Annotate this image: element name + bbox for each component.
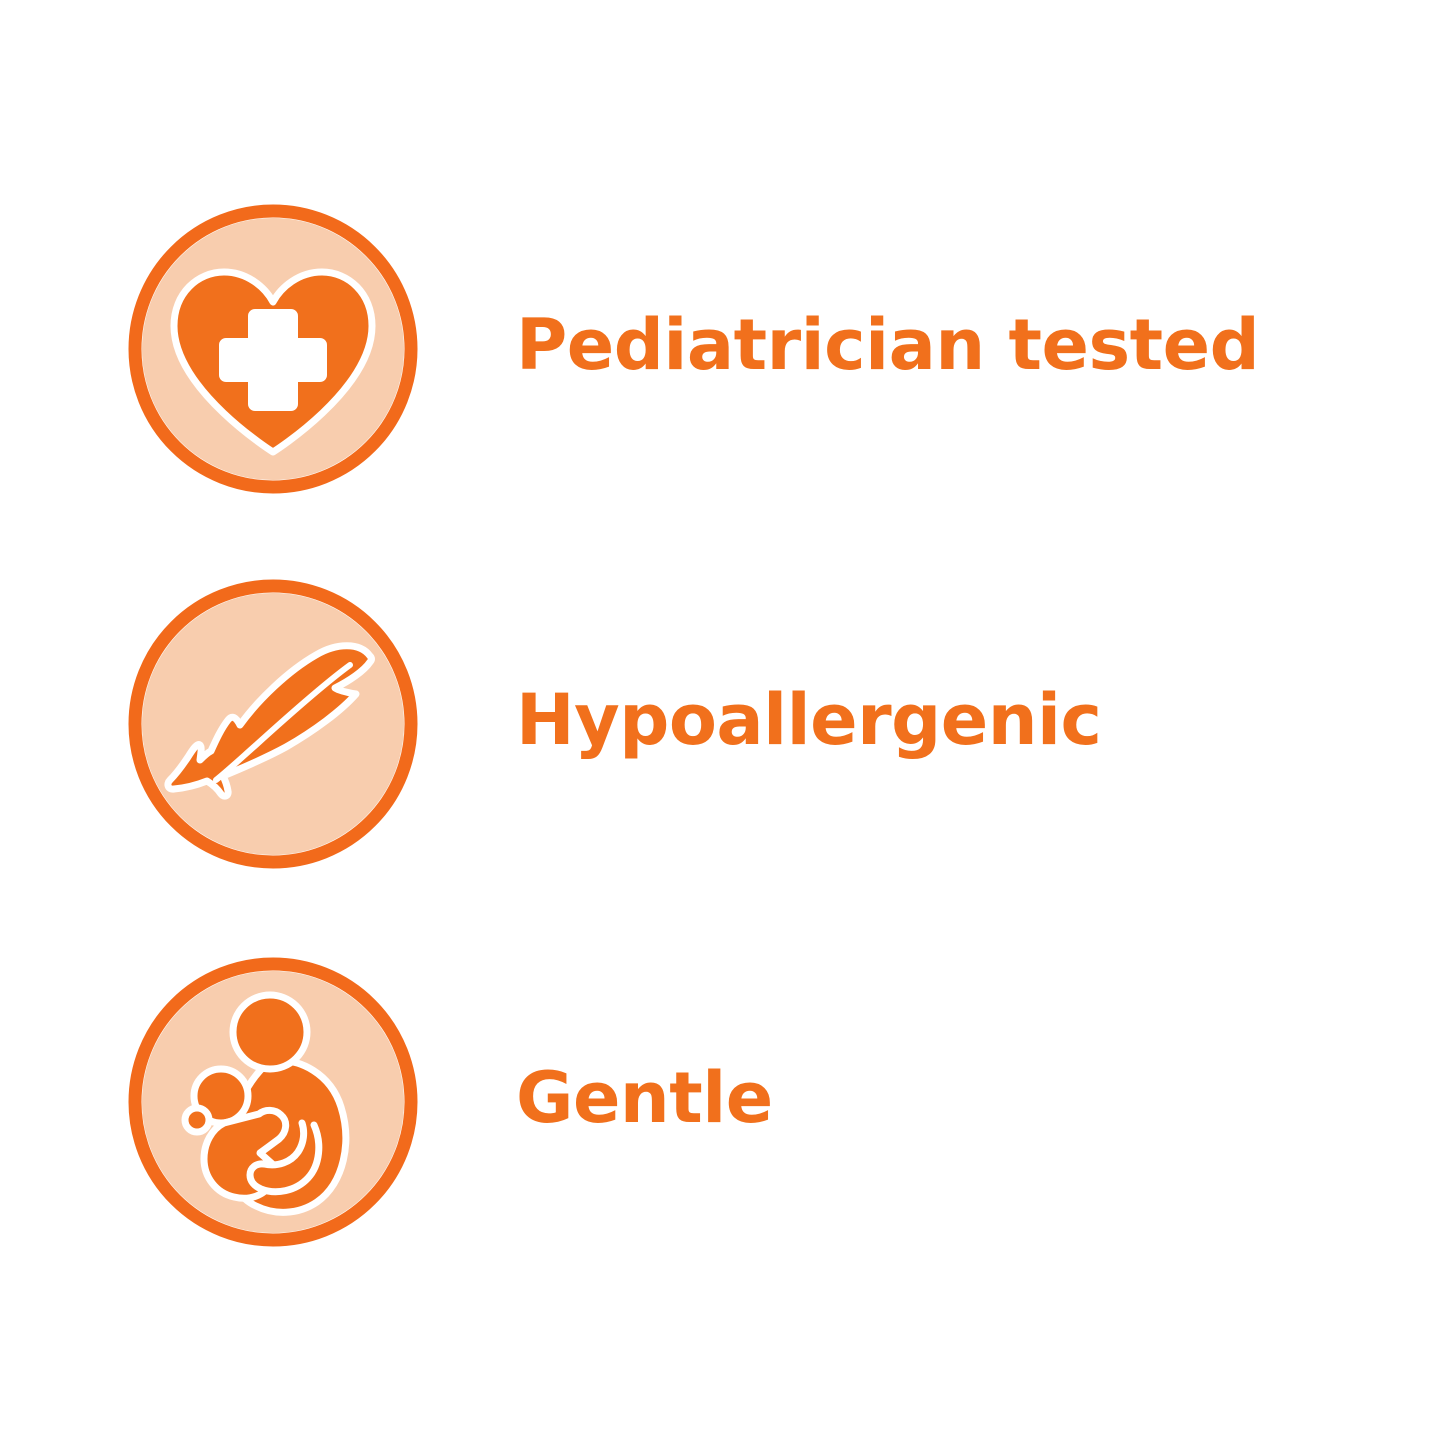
feature-row-gentle: Gentle [0, 948, 1445, 1248]
feature-label-hypoallergenic: Hypoallergenic [516, 570, 1102, 870]
heart-with-medical-cross-icon [128, 204, 418, 494]
feature-label-gentle: Gentle [516, 948, 773, 1248]
feather-icon [128, 579, 418, 869]
mother-holding-baby-icon [128, 957, 418, 1247]
feature-row-pediatrician-tested: Pediatrician tested [0, 195, 1445, 495]
feature-label-pediatrician-tested: Pediatrician tested [516, 195, 1259, 495]
feature-row-hypoallergenic: Hypoallergenic [0, 570, 1445, 870]
benefits-panel: Pediatrician tested Hypoallergenic [0, 0, 1445, 1444]
